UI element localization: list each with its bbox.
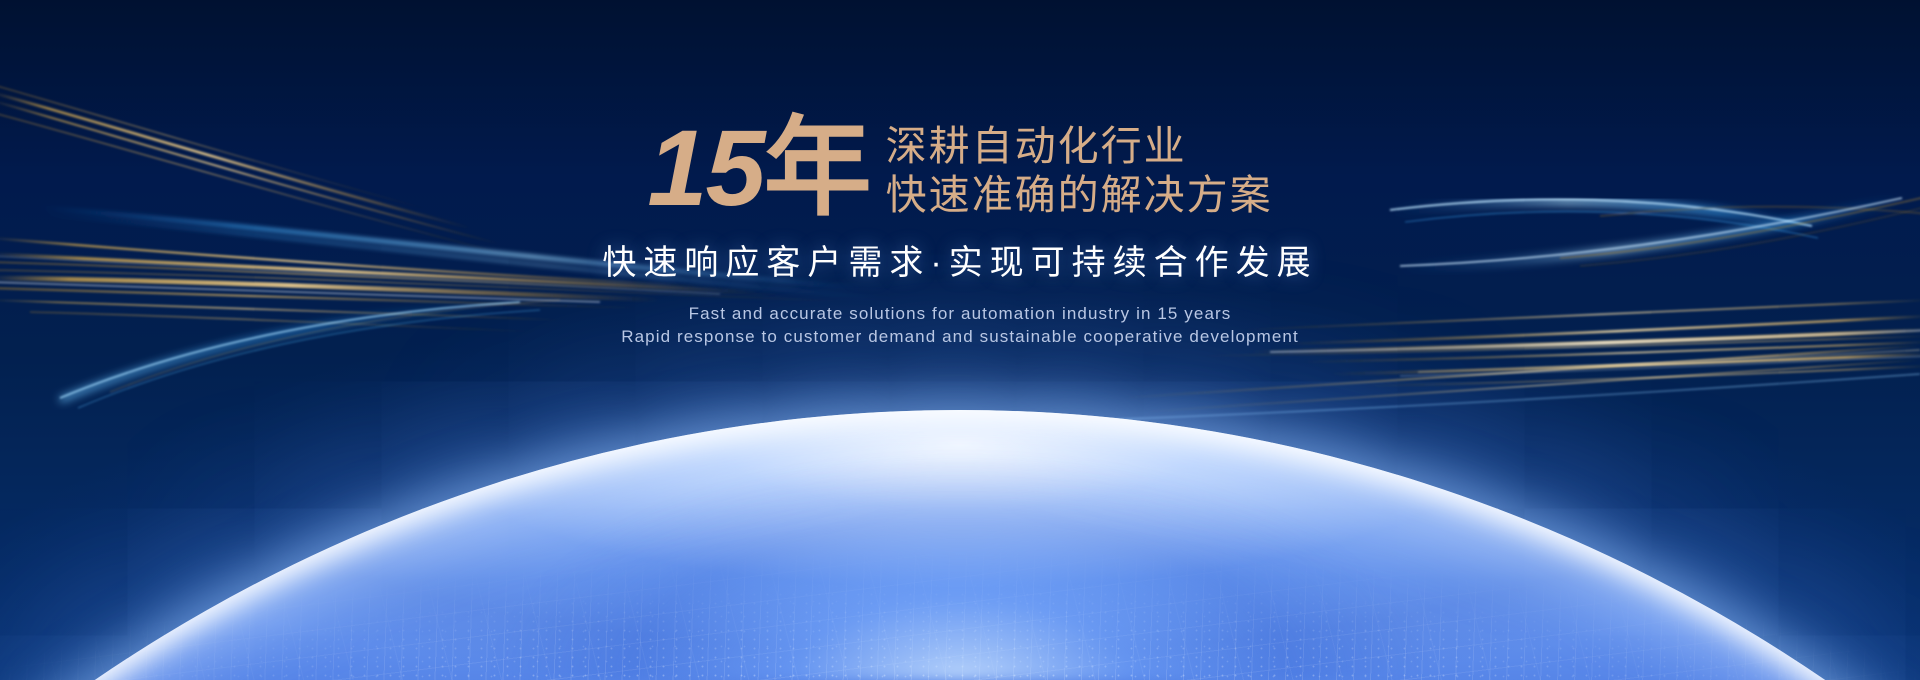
subtitle-english-line-1: Fast and accurate solutions for automati…: [0, 302, 1920, 325]
years-number: 15: [647, 107, 763, 228]
subtitle-chinese: 快速响应客户需求·实现可持续合作发展: [0, 242, 1920, 284]
headline-row: 15年 深耕自动化行业 快速准确的解决方案: [0, 112, 1920, 220]
subtitle-english: Fast and accurate solutions for automati…: [0, 302, 1920, 348]
years-unit: 年: [764, 107, 872, 228]
promo-banner: 15年 深耕自动化行业 快速准确的解决方案 快速响应客户需求·实现可持续合作发展…: [0, 0, 1920, 680]
headline-line-2: 快速准确的解决方案: [886, 171, 1273, 220]
banner-content: 15年 深耕自动化行业 快速准确的解决方案 快速响应客户需求·实现可持续合作发展…: [0, 112, 1920, 348]
subtitle-english-line-2: Rapid response to customer demand and su…: [0, 325, 1920, 348]
years-badge: 15年: [647, 112, 871, 220]
headline-lines: 深耕自动化行业 快速准确的解决方案: [886, 112, 1273, 220]
headline-line-1: 深耕自动化行业: [886, 122, 1273, 171]
